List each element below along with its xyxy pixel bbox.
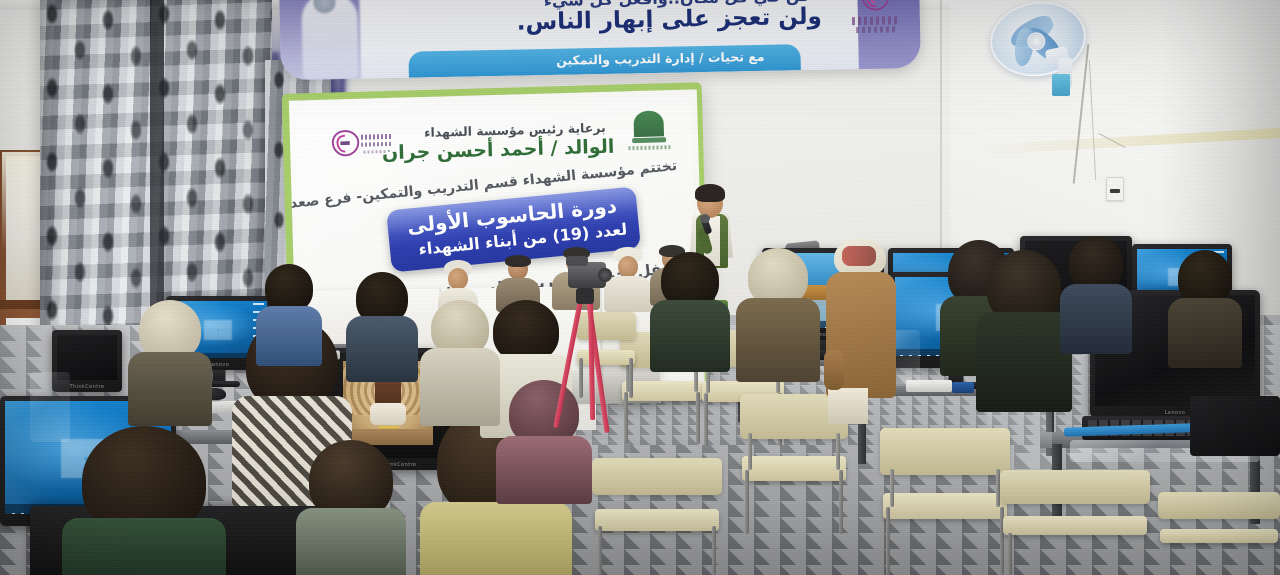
curtain-gap-shadow	[150, 0, 164, 326]
overhead-banner-ribbon-text: مع تحيات / إدارة التدريب والتمكين	[556, 49, 765, 68]
classroom-chair[interactable]	[592, 458, 722, 575]
logo-caption-line-2	[856, 26, 896, 33]
student-left-far-back	[256, 264, 322, 360]
crest-base	[632, 137, 666, 143]
student-left-back	[128, 300, 212, 420]
student-center-far	[346, 272, 418, 376]
student-center-behind-speaker	[650, 252, 730, 372]
green-dome-crest	[627, 110, 670, 157]
classroom-chair[interactable]	[880, 428, 1010, 575]
mousepad-blue	[952, 382, 974, 393]
monitor-brand-label: ThinkCentre	[70, 384, 105, 390]
camera-hood	[566, 256, 588, 266]
banner-silhouette-figure	[301, 0, 359, 80]
fan-control-box	[1052, 74, 1070, 96]
logo-caption-line	[361, 134, 393, 140]
classroom-chair[interactable]	[1000, 470, 1150, 575]
crest-dome-icon	[633, 110, 664, 137]
photo-person-robe	[370, 403, 406, 425]
student-right-edge	[1168, 250, 1242, 360]
swirl-logo-icon	[330, 129, 361, 158]
student-right-front	[976, 250, 1072, 400]
speaker-hair	[695, 184, 725, 202]
tripod-head	[576, 288, 594, 304]
monitor-bottom-right-partial[interactable]	[1190, 396, 1280, 456]
student-center-left-2	[420, 300, 500, 420]
student-foreground-left-2	[296, 440, 406, 575]
camera-lens	[598, 268, 612, 282]
training-empowerment-logo	[847, 0, 904, 41]
walking-attendee	[820, 238, 900, 438]
panel-official	[604, 252, 652, 314]
classroom-chair[interactable]	[1158, 492, 1280, 575]
swirl-logo-icon	[859, 0, 892, 13]
fan-cage-icon	[985, 0, 1091, 83]
crest-caption	[628, 145, 670, 150]
wall-mounted-fan	[990, 2, 1100, 82]
overhead-banner-line-2: ولن تعجز على إبهار الناس.	[516, 4, 822, 36]
student-foreground-left	[62, 426, 226, 575]
logo-caption-line	[852, 16, 900, 25]
student-mid-center	[496, 380, 592, 500]
wall-light-switch[interactable]	[1106, 177, 1124, 201]
student-center-right-2	[736, 248, 820, 378]
photo-scene: كن في كل مكان..وافعل كل شيء ولن تعجز على…	[0, 0, 1280, 575]
student-right-back	[1060, 236, 1132, 346]
overhead-banner: كن في كل مكان..وافعل كل شيء ولن تعجز على…	[279, 0, 921, 80]
microphone-head	[700, 214, 710, 223]
